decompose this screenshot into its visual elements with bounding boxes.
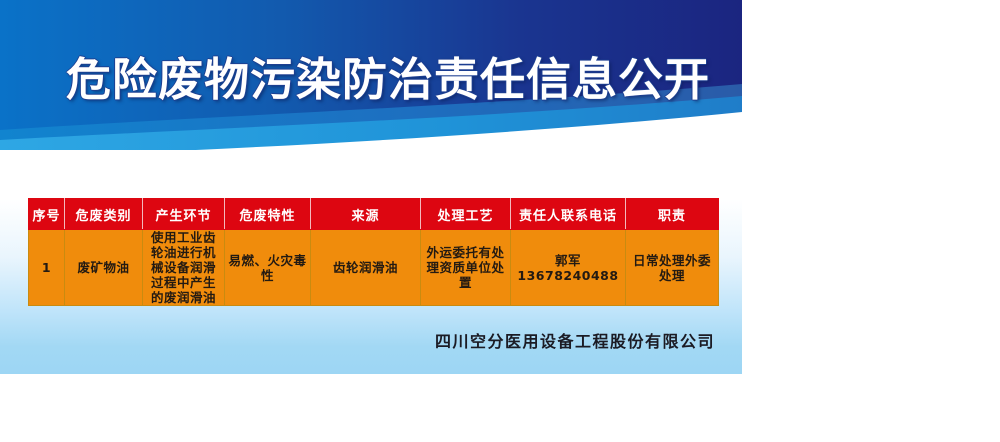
cell-category-text: 废矿物油 (67, 260, 140, 275)
cell-stage-text: 使用工业齿轮油进行机械设备润滑过程中产生的废润滑油 (151, 230, 216, 305)
hazardous-waste-table: 序号 危废类别 产生环节 危废特性 来源 处理工艺 责任人联系电话 职责 1 废… (28, 198, 719, 306)
cell-contact-phone: 13678240488 (513, 268, 623, 283)
cell-process: 外运委托有处理资质单位处置 (421, 230, 511, 306)
table-header-stage: 产生环节 (143, 199, 225, 230)
cell-index-text: 1 (31, 260, 62, 275)
table-header-category: 危废类别 (65, 199, 143, 230)
page-title: 危险废物污染防治责任信息公开 (66, 52, 710, 108)
cell-characteristics: 易燃、火灾毒性 (225, 230, 311, 306)
cell-duty-text: 日常处理外委处理 (633, 253, 711, 283)
table-header-index: 序号 (29, 199, 65, 230)
cell-source: 齿轮润滑油 (311, 230, 421, 306)
company-name: 四川空分医用设备工程股份有限公司 (0, 328, 715, 352)
table-row: 1 废矿物油 使用工业齿轮油进行机械设备润滑过程中产生的废润滑油 易燃、火灾毒性… (29, 230, 719, 306)
table-header-contact: 责任人联系电话 (511, 199, 626, 230)
cell-contact: 郭军 13678240488 (511, 230, 626, 306)
table-header-duty: 职责 (626, 199, 719, 230)
cell-process-text: 外运委托有处理资质单位处置 (426, 245, 504, 290)
table-header-row: 序号 危废类别 产生环节 危废特性 来源 处理工艺 责任人联系电话 职责 (29, 199, 719, 230)
cell-characteristics-text: 易燃、火灾毒性 (228, 253, 306, 283)
table-header-source: 来源 (311, 199, 421, 230)
cell-category: 废矿物油 (65, 230, 143, 306)
cell-source-text: 齿轮润滑油 (313, 260, 418, 275)
screenshot-canvas: 危险废物污染防治责任信息公开 序号 危废类别 产生环节 危废特性 来源 处理工艺… (0, 0, 1000, 442)
hazardous-waste-disclosure-poster: 危险废物污染防治责任信息公开 序号 危废类别 产生环节 危废特性 来源 处理工艺… (0, 0, 742, 374)
table-header-process: 处理工艺 (421, 199, 511, 230)
cell-index: 1 (29, 230, 65, 306)
table-header-characteristics: 危废特性 (225, 199, 311, 230)
cell-contact-name: 郭军 (513, 253, 623, 268)
cell-duty: 日常处理外委处理 (626, 230, 719, 306)
cell-stage: 使用工业齿轮油进行机械设备润滑过程中产生的废润滑油 (143, 230, 225, 306)
